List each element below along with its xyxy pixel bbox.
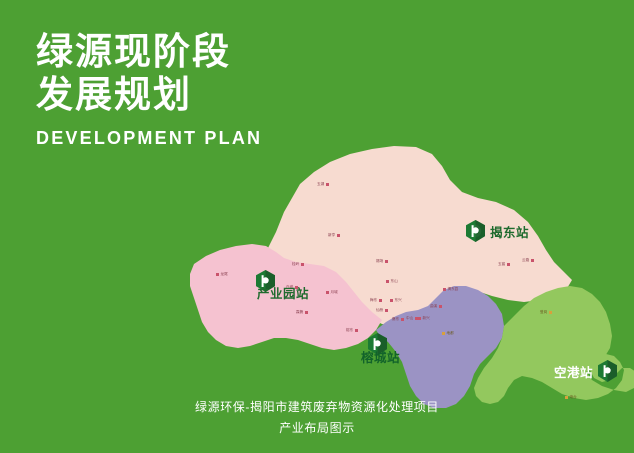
- city-marker: 龙尾: [216, 272, 228, 277]
- station-label: 产业园站: [257, 283, 309, 302]
- city-dot-icon: [531, 259, 534, 262]
- city-marker: 中山: [406, 316, 418, 321]
- city-dot-icon: [418, 317, 421, 320]
- city-marker: 新亨: [328, 233, 340, 238]
- caption-block: 绿源环保-揭阳市建筑废弃物资源化处理项目 产业布局图示: [0, 397, 634, 439]
- city-label: 仙桥: [376, 308, 383, 313]
- city-marker: 东兴: [390, 298, 402, 303]
- city-marker: 梅东: [370, 298, 382, 303]
- page-subtitle-english: DEVELOPMENT PLAN: [36, 128, 262, 149]
- city-label: 揭东县: [448, 287, 459, 292]
- caption-line-1: 绿源环保-揭阳市建筑废弃物资源化处理项目: [0, 397, 634, 418]
- city-label: 梅东: [370, 298, 377, 303]
- city-dot-icon: [386, 280, 389, 283]
- city-dot-icon: [549, 311, 552, 314]
- city-dot-icon: [390, 299, 393, 302]
- page-title-line-1: 绿源现阶段: [36, 30, 262, 73]
- city-marker: 新兴: [418, 316, 430, 321]
- caption-line-2: 产业布局图示: [0, 418, 634, 439]
- city-label: 锡场: [376, 259, 383, 264]
- city-dot-icon: [442, 332, 445, 335]
- green-hex-logo-icon: [598, 360, 617, 382]
- city-label: 玉湖: [317, 182, 324, 187]
- city-marker: 云路: [522, 258, 534, 263]
- city-marker: 地都: [442, 331, 454, 336]
- city-label: 新兴: [423, 316, 430, 321]
- station-marker-industrial-park[interactable]: 产业园站: [256, 259, 309, 302]
- city-dot-icon: [326, 291, 329, 294]
- city-dot-icon: [507, 263, 510, 266]
- city-marker: 登岗: [540, 310, 552, 315]
- city-label: 玉窖: [498, 262, 505, 267]
- city-dot-icon: [355, 329, 358, 332]
- city-dot-icon: [385, 260, 388, 263]
- city-marker: 榕东: [346, 328, 358, 333]
- station-label: 空港站: [554, 362, 593, 381]
- station-marker-rongcheng[interactable]: 榕城站: [368, 322, 400, 366]
- city-marker: 玉湖: [317, 182, 329, 187]
- city-label: 霖磐: [296, 310, 303, 315]
- city-marker: 揭东县: [443, 287, 458, 292]
- city-dot-icon: [443, 288, 446, 291]
- city-dot-icon: [216, 273, 219, 276]
- city-marker: 仙桥: [376, 308, 388, 313]
- city-marker: 东山: [386, 279, 398, 284]
- city-dot-icon: [379, 299, 382, 302]
- city-label: 月城: [331, 290, 338, 295]
- station-marker-jiedong[interactable]: 揭东站: [466, 220, 529, 242]
- city-label: 东兴: [395, 298, 402, 303]
- city-dot-icon: [439, 305, 442, 308]
- city-label: 榕东: [346, 328, 353, 333]
- city-label: 新亨: [328, 233, 335, 238]
- city-label: 云路: [522, 258, 529, 263]
- city-label: 登岗: [540, 310, 547, 315]
- city-marker: 月城: [326, 290, 338, 295]
- city-label: 东山: [391, 279, 398, 284]
- green-hex-logo-icon: [466, 220, 485, 242]
- city-marker: 霖磐: [296, 310, 308, 315]
- city-label: 地都: [447, 331, 454, 336]
- station-label: 榕城站: [361, 347, 400, 366]
- city-dot-icon: [385, 309, 388, 312]
- map-region-east-district[interactable]: [474, 286, 634, 404]
- page-title-line-2: 发展规划: [36, 73, 262, 116]
- city-dot-icon: [337, 234, 340, 237]
- city-label: 中山: [406, 316, 413, 321]
- city-marker: 玉窖: [498, 262, 510, 267]
- station-label: 揭东站: [490, 222, 529, 241]
- poster-root: 绿源现阶段 发展规划 DEVELOPMENT PLAN 玉湖 新亨 锡场: [0, 0, 634, 453]
- city-dot-icon: [305, 311, 308, 314]
- city-marker: 锡场: [376, 259, 388, 264]
- city-label: 曲溪: [430, 304, 437, 309]
- city-dot-icon: [401, 318, 404, 321]
- station-marker-airport[interactable]: 空港站: [554, 360, 617, 382]
- title-block: 绿源现阶段 发展规划 DEVELOPMENT PLAN: [36, 30, 262, 149]
- city-marker: 曲溪: [430, 304, 442, 309]
- city-label: 龙尾: [221, 272, 228, 277]
- city-dot-icon: [326, 183, 329, 186]
